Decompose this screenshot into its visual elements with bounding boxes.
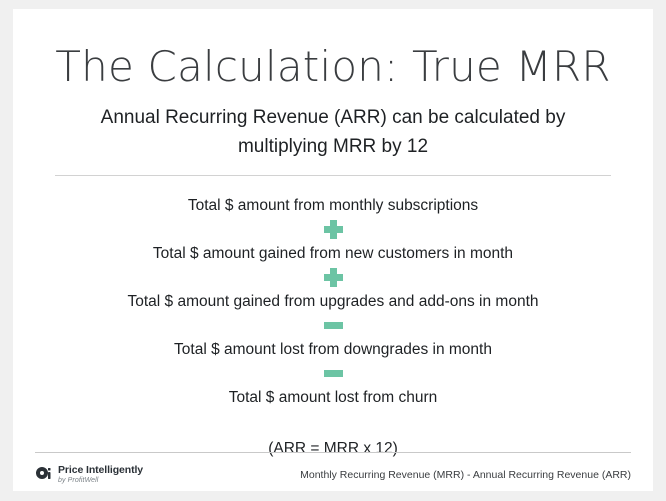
formula-line: Total $ amount from monthly subscription…	[13, 191, 653, 220]
formula-block: Total $ amount from monthly subscription…	[13, 191, 653, 460]
operator-row	[13, 364, 653, 383]
brand-logo-text: Price Intelligently by ProfitWell	[58, 465, 143, 485]
footer-caption: Monthly Recurring Revenue (MRR) - Annual…	[300, 469, 631, 481]
plus-icon	[324, 268, 343, 287]
operator-row	[13, 316, 653, 335]
minus-icon	[324, 370, 343, 377]
page-title: The Calculation: True MRR	[13, 43, 653, 91]
operator-row	[13, 268, 653, 287]
footer: Price Intelligently by ProfitWell Monthl…	[13, 458, 653, 491]
slide-canvas: The Calculation: True MRR Annual Recurri…	[13, 9, 653, 491]
minus-icon	[324, 322, 343, 329]
formula-line: Total $ amount lost from churn	[13, 383, 653, 412]
plus-icon	[324, 220, 343, 239]
brand-logo: Price Intelligently by ProfitWell	[35, 465, 143, 485]
operator-row	[13, 220, 653, 239]
price-intelligently-logo-icon	[35, 466, 52, 483]
header-divider	[55, 175, 611, 176]
brand-name: Price Intelligently	[58, 465, 143, 476]
footer-divider	[35, 452, 631, 453]
formula-line: Total $ amount gained from upgrades and …	[13, 287, 653, 316]
brand-tagline: by ProfitWell	[58, 477, 143, 484]
page-subtitle: Annual Recurring Revenue (ARR) can be ca…	[63, 103, 603, 161]
formula-line: Total $ amount lost from downgrades in m…	[13, 335, 653, 364]
formula-line: Total $ amount gained from new customers…	[13, 239, 653, 268]
